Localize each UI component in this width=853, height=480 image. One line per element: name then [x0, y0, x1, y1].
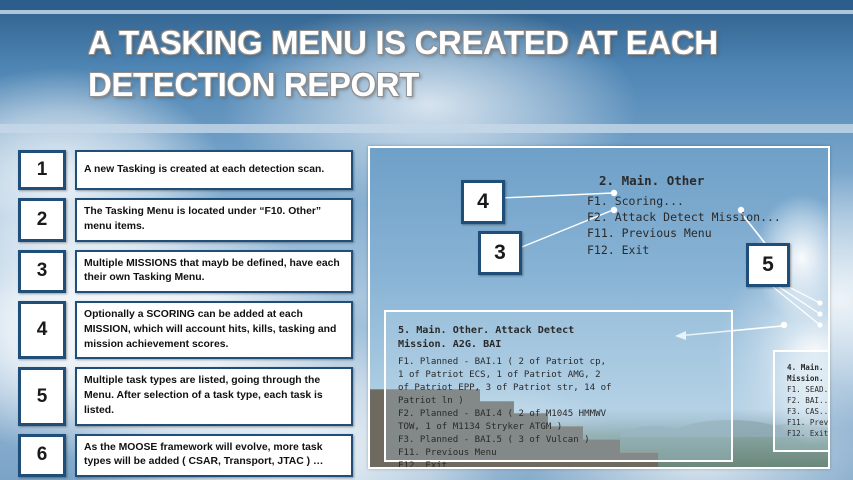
menu-main-other-title: 2. Main. Other	[599, 172, 781, 190]
panel-bai: 5. Main. Other. Attack Detect Mission. A…	[384, 310, 733, 462]
header-band-upper	[0, 10, 853, 14]
list-item: 1 A new Tasking is created at each detec…	[18, 150, 353, 190]
callout-badge-3: 3	[478, 231, 522, 275]
page-title: A TASKING MENU IS CREATED AT EACH DETECT…	[88, 22, 788, 106]
slide-root: A TASKING MENU IS CREATED AT EACH DETECT…	[0, 0, 853, 480]
menu-bai: 5. Main. Other. Attack Detect Mission. A…	[398, 324, 720, 469]
list-item-text: Optionally a SCORING can be added at eac…	[75, 301, 353, 359]
top-accent-bar	[0, 0, 853, 10]
list-item: 3 Multiple MISSIONS that mayb be defined…	[18, 250, 353, 294]
menu-a2g-title: 4. Main. Other. Attack Detect Mission. A…	[787, 362, 830, 384]
header-band-lower	[0, 124, 853, 133]
callout-badge-4: 4	[461, 180, 505, 224]
callout-badge-5: 5	[746, 243, 790, 287]
numbered-list: 1 A new Tasking is created at each detec…	[18, 150, 353, 480]
list-item-text: A new Tasking is created at each detecti…	[75, 150, 353, 190]
menu-a2g-items: F1. SEAD... F2. BAI... F3. CAS... F11. P…	[787, 384, 830, 439]
list-item-number: 1	[18, 150, 66, 190]
list-item: 2 The Tasking Menu is located under “F10…	[18, 198, 353, 242]
menu-bai-items: F1. Planned - BAI.1 ( 2 of Patriot cp, 1…	[398, 356, 720, 469]
list-item-number: 4	[18, 301, 66, 359]
list-item: 6 As the MOOSE framework will evolve, mo…	[18, 434, 353, 478]
list-item-text: As the MOOSE framework will evolve, more…	[75, 434, 353, 478]
list-item-text: Multiple task types are listed, going th…	[75, 367, 353, 425]
list-item-number: 6	[18, 434, 66, 478]
list-item-text: Multiple MISSIONS that mayb be defined, …	[75, 250, 353, 294]
list-item-text: The Tasking Menu is located under “F10. …	[75, 198, 353, 242]
menu-bai-title: 5. Main. Other. Attack Detect Mission. A…	[398, 324, 720, 353]
list-item: 4 Optionally a SCORING can be added at e…	[18, 301, 353, 359]
list-item: 5 Multiple task types are listed, going …	[18, 367, 353, 425]
panel-a2g: 4. Main. Other. Attack Detect Mission. A…	[773, 350, 830, 452]
list-item-number: 2	[18, 198, 66, 242]
menu-a2g: 4. Main. Other. Attack Detect Mission. A…	[787, 362, 830, 440]
list-item-number: 5	[18, 367, 66, 425]
diagram-screenshot: 2. Main. Other F1. Scoring... F2. Attack…	[368, 146, 830, 469]
list-item-number: 3	[18, 250, 66, 294]
